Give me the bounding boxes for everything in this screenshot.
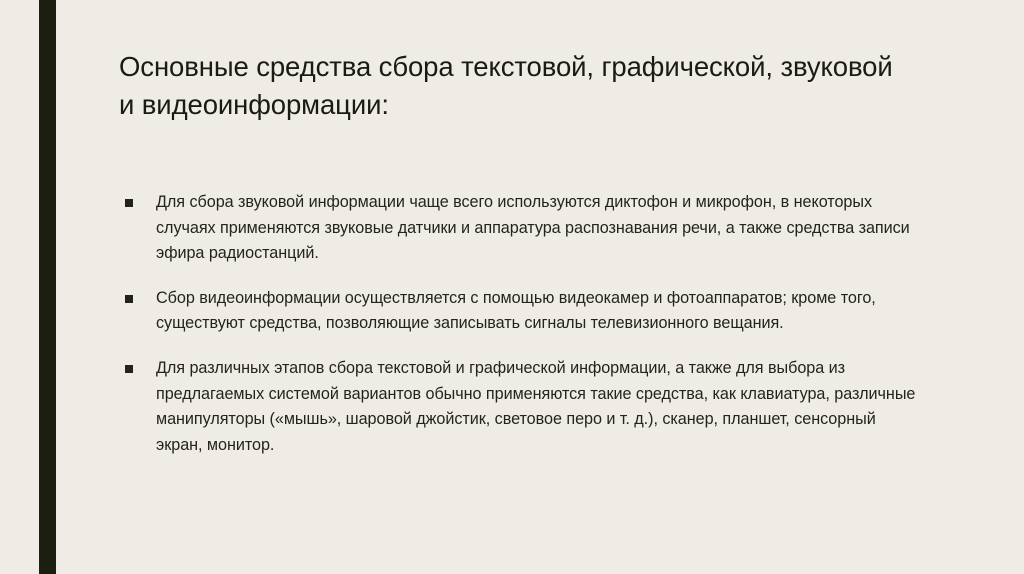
presentation-slide: Основные средства сбора текстовой, графи… [0, 0, 1024, 574]
bullet-list: Для сбора звуковой информации чаще всего… [119, 190, 919, 458]
square-bullet-icon [125, 295, 133, 303]
list-item: Для различных этапов сбора текстовой и г… [119, 356, 919, 458]
square-bullet-icon [125, 199, 133, 207]
list-item: Для сбора звуковой информации чаще всего… [119, 190, 919, 267]
slide-title: Основные средства сбора текстовой, графи… [119, 48, 909, 124]
list-item: Сбор видеоинформации осуществляется с по… [119, 286, 919, 337]
left-accent-bar [39, 0, 56, 574]
slide-content: Основные средства сбора текстовой, графи… [119, 0, 919, 574]
list-item-text: Для сбора звуковой информации чаще всего… [156, 190, 919, 267]
square-bullet-icon [125, 365, 133, 373]
list-item-text: Сбор видеоинформации осуществляется с по… [156, 286, 919, 337]
list-item-text: Для различных этапов сбора текстовой и г… [156, 356, 919, 458]
